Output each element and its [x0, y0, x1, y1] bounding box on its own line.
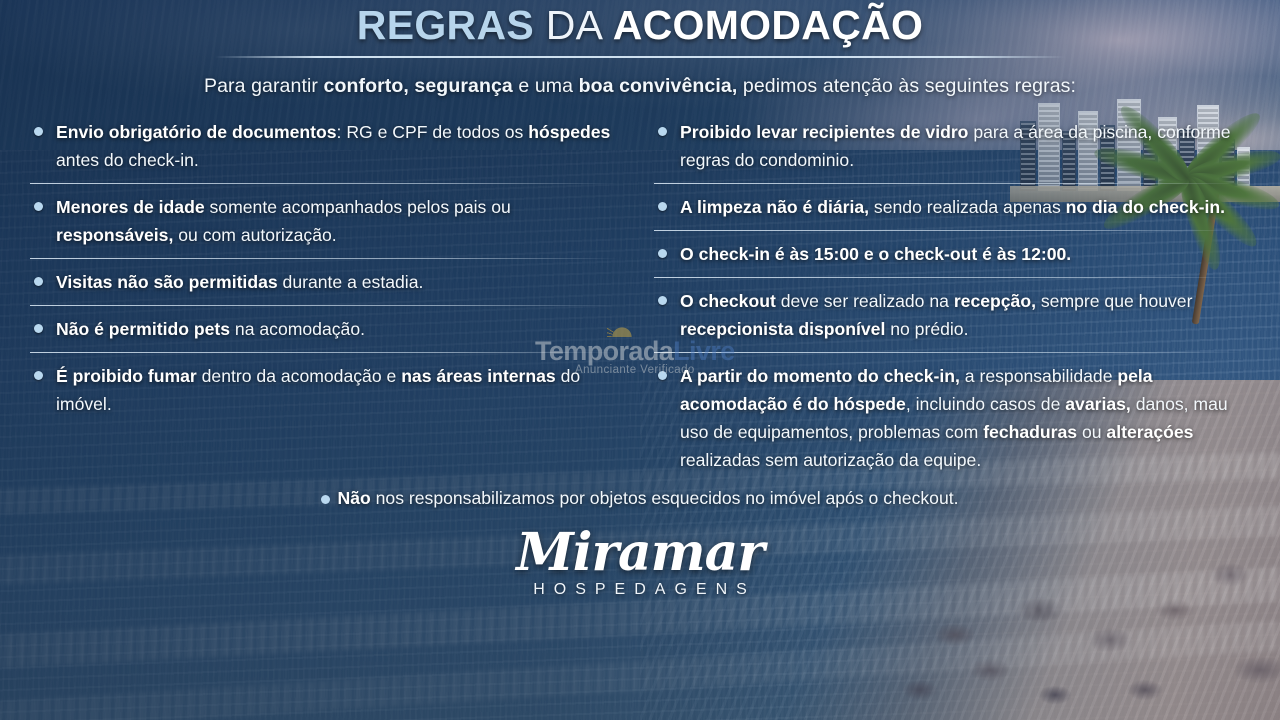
list-item: O check-in é às 15:00 e o check-out é às… — [654, 240, 1246, 268]
rules-columns: Envio obrigatório de documentos: RG e CP… — [0, 118, 1280, 474]
footnote-text: nos responsabilizamos por objetos esquec… — [371, 488, 959, 508]
rule-text-end-4: realizadas sem autorização da equipe. — [680, 450, 981, 470]
rule-text-after: deve ser realizado na — [776, 291, 954, 311]
footnote-bold: Não — [337, 488, 370, 508]
list-item: A limpeza não é diária, sendo realizada … — [654, 193, 1246, 221]
rule-bold-lead: A partir do momento do check-in, — [680, 366, 960, 386]
brand-logo: Miramar HOSPEDAGENS — [0, 525, 1280, 599]
page-content: REGRAS DA ACOMODAÇÃO Para garantir confo… — [0, 0, 1280, 720]
rule-bold-mid: hóspedes — [528, 122, 610, 142]
title-word-acomodacao: ACOMODAÇÃO — [613, 2, 923, 48]
list-item: O checkout deve ser realizado na recepçã… — [654, 287, 1246, 343]
rule-divider — [30, 183, 618, 184]
rule-bold-mid: nas áreas internas — [401, 366, 556, 386]
rule-divider — [30, 352, 618, 353]
rule-bold-mid: recepção, — [954, 291, 1036, 311]
bullet-icon — [658, 249, 667, 258]
title-divider — [215, 56, 1065, 58]
rule-text-end: , incluindo casos de — [906, 394, 1065, 414]
title-word-da: DA — [546, 2, 601, 48]
rule-text-end-2: no prédio. — [885, 319, 968, 339]
rule-text: Visitas não são permitidas durante a est… — [56, 268, 622, 296]
rule-text: É proibido fumar dentro da acomodação e … — [56, 362, 622, 418]
rule-text: A limpeza não é diária, sendo realizada … — [680, 193, 1246, 221]
rules-column-right: Proibido levar recipientes de vidro para… — [640, 118, 1250, 474]
bullet-icon — [658, 127, 667, 136]
rule-text-after: sendo realizada apenas — [869, 197, 1066, 217]
list-item: Não é permitido pets na acomodação. — [30, 315, 622, 343]
rules-column-left: Envio obrigatório de documentos: RG e CP… — [30, 118, 640, 474]
page-title: REGRAS DA ACOMODAÇÃO — [0, 0, 1280, 49]
rule-bold-lead: O check-in é às 15:00 e o check-out é às… — [680, 244, 1071, 264]
bullet-icon — [34, 324, 43, 333]
rule-bold-lead: A limpeza não é diária, — [680, 197, 869, 217]
rule-bold-lead: O checkout — [680, 291, 776, 311]
rule-divider — [30, 258, 618, 259]
rule-text-end: ou com autorização. — [173, 225, 336, 245]
rule-bold-lead: Envio obrigatório de documentos — [56, 122, 337, 142]
footnote: Não nos responsabilizamos por objetos es… — [0, 488, 1280, 509]
rule-text: Não é permitido pets na acomodação. — [56, 315, 622, 343]
bullet-icon — [658, 202, 667, 211]
rule-text: A partir do momento do check-in, a respo… — [680, 362, 1246, 474]
subtitle-post: pedimos atenção às seguintes regras: — [737, 75, 1076, 97]
bullet-icon — [34, 202, 43, 211]
list-item: É proibido fumar dentro da acomodação e … — [30, 362, 622, 418]
rule-divider — [654, 230, 1242, 231]
subtitle: Para garantir conforto, segurança e uma … — [0, 75, 1280, 98]
rule-bold-mid-3: fechaduras — [983, 422, 1077, 442]
rule-text-after: a responsabilidade — [960, 366, 1117, 386]
rule-text-end: sempre que houver — [1036, 291, 1192, 311]
rule-bold-lead: Proibido levar recipientes de vidro — [680, 122, 968, 142]
rule-text-after: dentro da acomodação e — [197, 366, 401, 386]
logo-tagline: HOSPEDAGENS — [0, 581, 1280, 599]
rule-text: Menores de idade somente acompanhados pe… — [56, 193, 622, 249]
rule-bold-mid-2: recepcionista disponível — [680, 319, 885, 339]
rule-bold-lead: Visitas não são permitidas — [56, 272, 278, 292]
rule-bold-mid-2: avarias, — [1065, 394, 1131, 414]
rule-text: O check-in é às 15:00 e o check-out é às… — [680, 240, 1246, 268]
rule-text-end: antes do check-in. — [56, 150, 199, 170]
rule-divider — [654, 277, 1242, 278]
list-item: Envio obrigatório de documentos: RG e CP… — [30, 118, 622, 174]
rule-text: Proibido levar recipientes de vidro para… — [680, 118, 1246, 174]
bullet-icon — [321, 495, 330, 504]
list-item: Menores de idade somente acompanhados pe… — [30, 193, 622, 249]
rule-text: Envio obrigatório de documentos: RG e CP… — [56, 118, 622, 174]
rule-text-end-3: ou — [1077, 422, 1106, 442]
subtitle-bold-2: boa convivência, — [579, 75, 738, 97]
rule-bold-mid: responsáveis, — [56, 225, 173, 245]
rule-bold-lead: Não é permitido pets — [56, 319, 230, 339]
logo-name: Miramar — [0, 525, 1280, 581]
rule-bold-lead: Menores de idade — [56, 197, 205, 217]
list-item: Visitas não são permitidas durante a est… — [30, 268, 622, 296]
rule-text-after: na acomodação. — [230, 319, 365, 339]
bullet-icon — [658, 371, 667, 380]
rule-bold-lead: É proibido fumar — [56, 366, 197, 386]
subtitle-pre: Para garantir — [204, 75, 324, 97]
rule-bold-mid: no dia do check-in. — [1066, 197, 1225, 217]
bullet-icon — [34, 371, 43, 380]
title-word-regras: REGRAS — [357, 2, 534, 48]
bullet-icon — [34, 277, 43, 286]
rule-divider — [654, 183, 1242, 184]
rule-text-after: somente acompanhados pelos pais ou — [205, 197, 511, 217]
subtitle-mid: e uma — [513, 75, 579, 97]
subtitle-bold-1: conforto, segurança — [324, 75, 513, 97]
rule-text-after: : RG e CPF de todos os — [337, 122, 529, 142]
bullet-icon — [34, 127, 43, 136]
rule-text-after: durante a estadia. — [278, 272, 424, 292]
bullet-icon — [658, 296, 667, 305]
rule-bold-mid-4: alteraçóes — [1106, 422, 1193, 442]
rule-divider — [654, 352, 1242, 353]
list-item: Proibido levar recipientes de vidro para… — [654, 118, 1246, 174]
rule-divider — [30, 305, 618, 306]
rule-text: O checkout deve ser realizado na recepçã… — [680, 287, 1246, 343]
list-item: A partir do momento do check-in, a respo… — [654, 362, 1246, 474]
